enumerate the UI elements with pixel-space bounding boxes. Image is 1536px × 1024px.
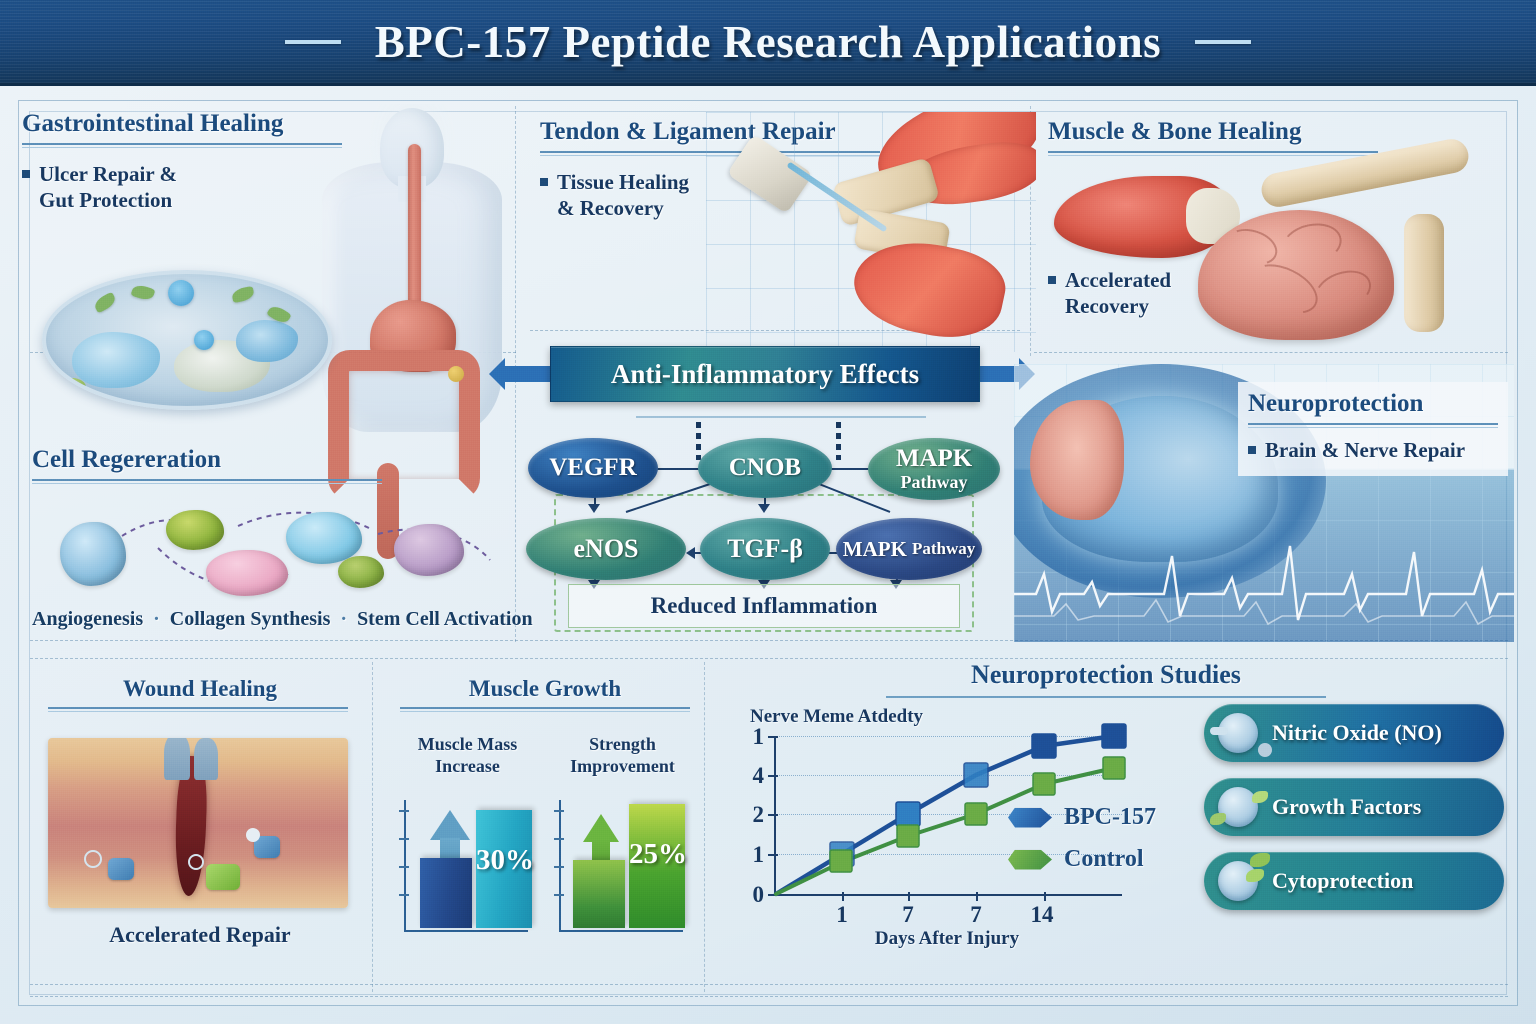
upper-bone-icon — [1259, 136, 1472, 209]
petri-dish-illustration — [42, 270, 332, 410]
receptor-icon-3 — [246, 828, 260, 842]
node-cnob[interactable]: CNOB — [698, 438, 832, 498]
legend-entry-bpc157: BPC-157 — [1008, 804, 1156, 831]
lower-bone-icon — [1404, 214, 1444, 332]
receptor-icon-2 — [188, 854, 204, 870]
series-line-control — [776, 768, 1114, 894]
leaf-icon-2 — [1252, 791, 1268, 803]
bar-label-line2: Increase — [390, 756, 545, 778]
leaf-icon — [1210, 813, 1226, 825]
bar-label-line1: Strength — [545, 734, 700, 756]
bar-group-label-muscle-mass: Muscle Mass Increase — [390, 734, 545, 777]
bullet-square-icon — [22, 170, 30, 178]
leaf-icon-4 — [1246, 869, 1264, 882]
node-mapk-top-label: MAPK — [896, 446, 972, 472]
page-header: BPC-157 Peptide Research Applications — [0, 0, 1536, 86]
bullet-square-icon — [1048, 276, 1056, 284]
panel-muscle-bone-healing: Muscle & Bone Healing Accelerated Recove… — [1048, 118, 1508, 333]
bar-axis-x — [559, 930, 683, 932]
bar-label-line1: Muscle Mass — [390, 734, 545, 756]
green-cell-icon-2 — [338, 556, 384, 588]
stem-cell-icon — [394, 524, 464, 576]
angiogenesis-cell-icon — [60, 522, 126, 586]
arrowhead-tgf — [758, 504, 770, 513]
caption-sep-1: · — [148, 608, 165, 630]
arrow-left-icon — [504, 366, 550, 382]
blue-cell-icon — [286, 512, 362, 564]
panel-title-underline-cell — [32, 479, 382, 484]
panel-wound-healing: Wound Healing Accelerated Repair — [40, 676, 360, 966]
esophagus-icon — [408, 144, 421, 324]
leaf-icon-3 — [231, 286, 255, 303]
leaf-icon-1 — [92, 292, 118, 314]
badge-nitric-oxide[interactable]: Nitric Oxide (NO) — [1204, 704, 1504, 762]
node-enos[interactable]: eNOS — [526, 518, 686, 580]
anti-inflammatory-banner-label: Anti-Inflammatory Effects — [611, 359, 919, 390]
header-rule-right — [1195, 40, 1251, 44]
arrowhead-enos — [588, 504, 600, 513]
bullet-square-icon — [1248, 446, 1256, 454]
node-mapk-bottom-sublabel: Pathway — [912, 540, 975, 558]
badge-growth-factors[interactable]: Growth Factors — [1204, 778, 1504, 836]
anti-inflammatory-banner-wrap: Anti-Inflammatory Effects — [518, 346, 1006, 404]
panel-title-underline-mb — [1048, 151, 1378, 156]
panel-neuroprotection: Neuroprotection Brain & Nerve Repair — [1014, 364, 1514, 642]
up-arrow-icon-green — [583, 814, 619, 842]
legend-marker-bpc157 — [1008, 808, 1052, 828]
divider-bottom-col-2 — [704, 662, 705, 992]
chart-x-axis-label: Days After Injury — [782, 928, 1112, 950]
platelet-icon-2 — [194, 738, 218, 780]
bullet-text-mb-line1: Accelerated — [1065, 268, 1171, 294]
node-mapk-pathway-top[interactable]: MAPK Pathway — [868, 438, 1000, 500]
panel-muscle-growth: Muscle Growth Muscle Mass Increase 30% S… — [390, 676, 700, 966]
bar-tick-3 — [399, 866, 409, 868]
bullet-text-tendon-line1: Tissue Healing — [557, 170, 689, 196]
node-vegfr-label: VEGFR — [549, 455, 637, 481]
leaf-icon-3 — [1250, 853, 1270, 867]
bar-tick-1 — [399, 810, 409, 812]
bullet-text-tendon-line2: & Recovery — [557, 196, 689, 222]
caption-angiogenesis: Angiogenesis — [32, 608, 143, 630]
cell-shield-icon — [1218, 861, 1258, 901]
reduced-inflammation-label: Reduced Inflammation — [651, 593, 878, 619]
series-markers-bpc157 — [830, 724, 1126, 866]
node-vegfr[interactable]: VEGFR — [528, 438, 658, 498]
panel-cell-regeneration: Cell Regereration Angiogenesis · Collage… — [32, 446, 510, 646]
anti-inflammatory-banner: Anti-Inflammatory Effects — [550, 346, 980, 402]
badge-label-cytoprotection: Cytoprotection — [1272, 868, 1413, 894]
divider-bottom-col-1 — [372, 662, 373, 992]
bar-value-muscle-mass: 30% — [476, 810, 532, 928]
divider-mb — [1034, 352, 1508, 353]
skin-cross-section-illustration — [48, 738, 348, 908]
node-cnob-label: CNOB — [729, 455, 801, 481]
bullet-text-neuro: Brain & Nerve Repair — [1265, 438, 1465, 464]
cell-illustration-strip — [38, 504, 508, 604]
green-cell-icon — [166, 510, 224, 550]
panel-title-muscle-growth: Muscle Growth — [390, 676, 700, 702]
bar-tick-4 — [554, 894, 564, 896]
reduced-inflammation-box: Reduced Inflammation — [568, 584, 960, 628]
panel-neuroprotection-studies: Neuroprotection Studies Nerve Meme Atded… — [712, 660, 1512, 970]
legend-label-control: Control — [1064, 846, 1144, 873]
bar-value-label-strength: 25% — [629, 838, 685, 871]
node-mapk-top-sublabel: Pathway — [901, 473, 968, 492]
bar-tick-1 — [554, 810, 564, 812]
mechanism-badge-list: Nitric Oxide (NO) Growth Factors Cytopro… — [1204, 704, 1504, 926]
wound-healing-caption: Accelerated Repair — [40, 922, 360, 948]
bar-value-strength: 25% — [629, 804, 685, 928]
bar-baseline-muscle-mass — [420, 858, 472, 928]
caption-stem-cell-activation: Stem Cell Activation — [357, 608, 533, 630]
caption-sep-2: · — [335, 608, 352, 630]
panel-title-underline-wound — [48, 707, 348, 712]
panel-title-underline-neuro — [1248, 423, 1498, 428]
panel-title-wound-healing: Wound Healing — [40, 676, 360, 702]
blue-cell-blob-2 — [236, 320, 298, 362]
gyrus-line-2 — [1278, 218, 1345, 270]
pathway-divider-rule — [636, 416, 926, 418]
panel-title-neuroprotection: Neuroprotection — [1248, 390, 1498, 418]
legend-label-bpc157: BPC-157 — [1064, 804, 1156, 831]
bullet-text-mb-line2: Recovery — [1065, 294, 1171, 320]
cell-growth-icon — [1218, 787, 1258, 827]
neuroprotection-line-chart: Nerve Meme Atdedty 1 4 2 1 0 1 7 7 14 — [722, 706, 1172, 956]
collagen-cell-cluster-icon — [206, 550, 288, 596]
panel-gastrointestinal-healing: Gastrointestinal Healing Ulcer Repair & … — [22, 110, 522, 360]
dotted-connector-1 — [696, 422, 701, 460]
bar-group-label-strength: Strength Improvement — [545, 734, 700, 777]
human-body-illustration — [262, 104, 562, 434]
panel-tendon-ligament-repair: Tendon & Ligament Repair Tissue Healing … — [540, 118, 1030, 333]
divider-mid-2 — [30, 658, 1508, 659]
gallbladder-icon — [448, 366, 464, 382]
bar-group-strength: Strength Improvement 25% — [545, 734, 700, 964]
receptor-icon-1 — [84, 850, 102, 868]
green-cell-blob — [60, 378, 86, 400]
gyrus-line-4 — [1309, 263, 1376, 319]
badge-cytoprotection[interactable]: Cytoprotection — [1204, 852, 1504, 910]
bar-tick-4 — [399, 894, 409, 896]
node-tgf-beta-label: TGF-β — [727, 535, 803, 562]
arrowhead-enos-2 — [686, 547, 695, 559]
cell-regeneration-caption: Angiogenesis · Collagen Synthesis · Stem… — [32, 608, 510, 631]
studies-title: Neuroprotection Studies — [886, 660, 1326, 690]
panel-title-underline-growth — [400, 707, 690, 712]
dotted-connector-2 — [836, 422, 841, 460]
legend-entry-control: Control — [1008, 846, 1144, 873]
node-tgf-beta[interactable]: TGF-β — [700, 518, 830, 580]
blue-cell-blob-1 — [72, 332, 160, 388]
divider-bottom-2 — [30, 996, 1508, 997]
legend-marker-control — [1008, 850, 1052, 870]
flower-icon-2 — [194, 330, 214, 350]
immune-cell-icon-1 — [108, 858, 134, 880]
bullet-neuro-1: Brain & Nerve Repair — [1248, 438, 1498, 464]
bar-axis-x — [404, 930, 528, 932]
platelet-icon-1 — [164, 738, 190, 780]
caption-collagen-synthesis: Collagen Synthesis — [170, 608, 331, 630]
bar-tick-2 — [399, 838, 409, 840]
header-rule-left — [285, 40, 341, 44]
bullet-square-icon — [540, 178, 548, 186]
divider-bottom — [30, 984, 1508, 985]
leaf-icon-2 — [131, 283, 156, 302]
muscle-fiber-icon — [1054, 176, 1234, 258]
ecg-waveform — [1014, 516, 1514, 636]
page-title: BPC-157 Peptide Research Applications — [375, 16, 1161, 68]
molecule-node-icon — [1258, 743, 1272, 757]
bullet-text-gi-line1: Ulcer Repair & — [39, 162, 177, 188]
muscle-growth-bar-charts: Muscle Mass Increase 30% Strength Improv… — [390, 734, 700, 964]
node-enos-label: eNOS — [574, 535, 639, 562]
bar-label-line2: Improvement — [545, 756, 700, 778]
badge-label-nitric-oxide: Nitric Oxide (NO) — [1272, 720, 1442, 746]
node-mapk-pathway-bottom[interactable]: MAPK Pathway — [836, 518, 982, 580]
flower-icon-1 — [168, 280, 194, 306]
panel-title-cell-regeneration: Cell Regereration — [32, 446, 510, 474]
knee-joint-illustration — [706, 112, 1036, 352]
molecule-icon — [1218, 713, 1258, 753]
bar-group-muscle-mass: Muscle Mass Increase 30% — [390, 734, 545, 964]
pathway-diagram: Anti-Inflammatory Effects VEGFR CNOB MAP… — [518, 346, 1006, 642]
growth-cell-icon — [206, 864, 240, 890]
bar-baseline-strength — [573, 860, 625, 928]
molecule-bond-icon — [1210, 727, 1228, 735]
chart-series-plot — [722, 706, 1172, 956]
bar-value-label-muscle-mass: 30% — [476, 844, 532, 877]
bar-tick-3 — [554, 866, 564, 868]
up-arrow-icon-blue — [430, 810, 470, 840]
studies-title-underline — [886, 696, 1326, 698]
bullet-text-gi-line2: Gut Protection — [39, 188, 177, 214]
bar-tick-2 — [554, 838, 564, 840]
neuroprotection-label-box: Neuroprotection Brain & Nerve Repair — [1238, 382, 1508, 476]
node-mapk-bottom-label: MAPK — [843, 538, 907, 560]
badge-label-growth-factors: Growth Factors — [1272, 794, 1421, 820]
